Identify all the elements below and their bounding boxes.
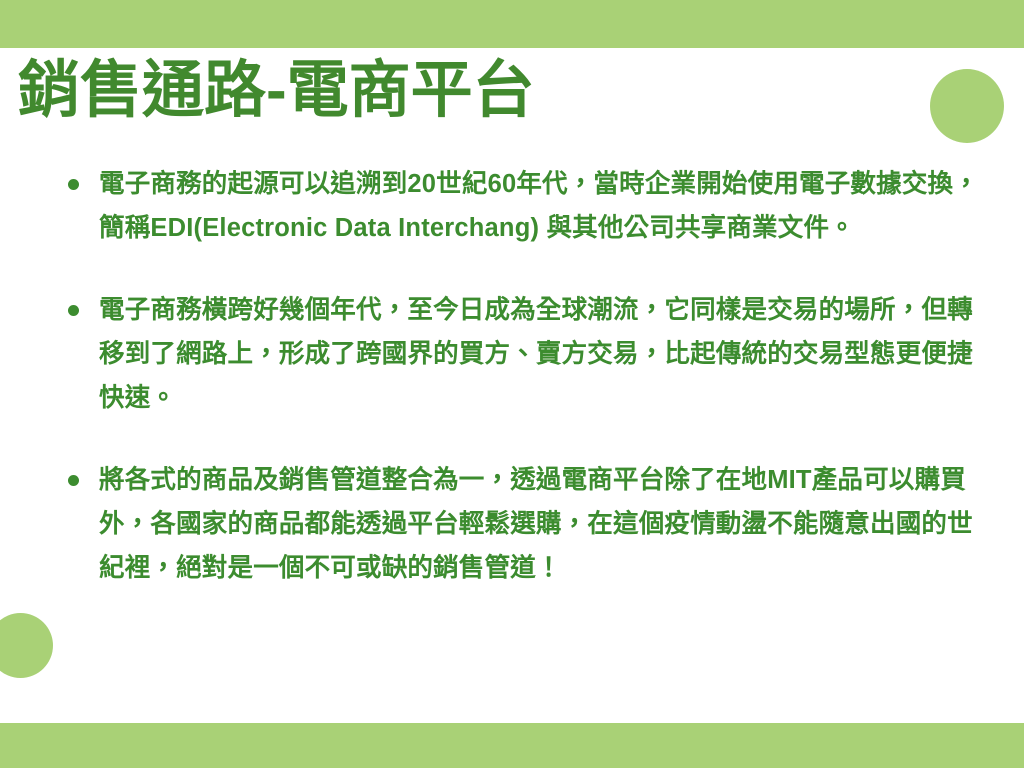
list-item: 將各式的商品及銷售管道整合為一，透過電商平台除了在地MIT產品可以購買外，各國家… bbox=[56, 458, 986, 590]
bullet-dot-icon bbox=[68, 475, 79, 486]
bullet-text: 電子商務橫跨好幾個年代，至今日成為全球潮流，它同樣是交易的場所，但轉移到了網路上… bbox=[99, 288, 986, 420]
bullet-text: 電子商務的起源可以追溯到20世紀60年代，當時企業開始使用電子數據交換，簡稱ED… bbox=[99, 162, 986, 250]
list-item: 電子商務橫跨好幾個年代，至今日成為全球潮流，它同樣是交易的場所，但轉移到了網路上… bbox=[56, 288, 986, 420]
bullet-text: 將各式的商品及銷售管道整合為一，透過電商平台除了在地MIT產品可以購買外，各國家… bbox=[99, 458, 986, 590]
bullet-dot-icon bbox=[68, 179, 79, 190]
green-circle-bottom-left-icon bbox=[0, 613, 53, 678]
list-item: 電子商務的起源可以追溯到20世紀60年代，當時企業開始使用電子數據交換，簡稱ED… bbox=[56, 162, 986, 250]
bottom-green-band bbox=[0, 723, 1024, 768]
slide-body: 電子商務的起源可以追溯到20世紀60年代，當時企業開始使用電子數據交換，簡稱ED… bbox=[56, 162, 986, 590]
presentation-slide: 銷售通路-電商平台 電子商務的起源可以追溯到20世紀60年代，當時企業開始使用電… bbox=[0, 0, 1024, 768]
top-green-band bbox=[0, 0, 1024, 48]
slide-title: 銷售通路-電商平台 bbox=[18, 52, 918, 130]
bullet-dot-icon bbox=[68, 305, 79, 316]
green-circle-top-right-icon bbox=[930, 69, 1004, 143]
